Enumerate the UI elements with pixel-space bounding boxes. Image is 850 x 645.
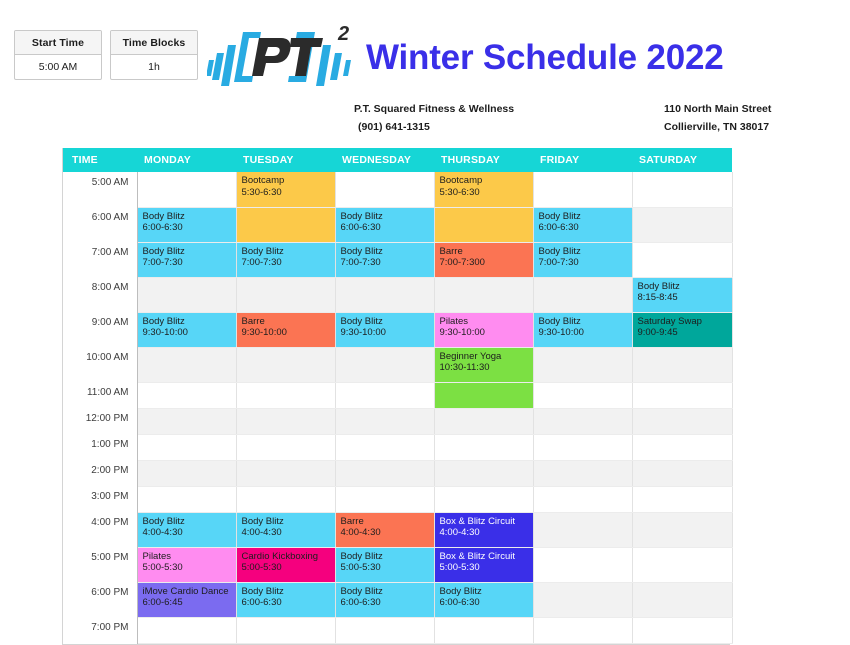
empty-slot-friday[interactable] [533,486,632,512]
class-block-tuesday[interactable]: Bootcamp5:30-6:30 [236,172,335,207]
empty-slot-saturday[interactable] [632,486,732,512]
time-label: 1:00 PM [63,434,137,460]
class-block-content: Body Blitz9:30-10:00 [534,313,632,347]
business-address: 110 North Main Street Collierville, TN 3… [664,100,771,136]
class-name: Body Blitz [341,246,434,258]
empty-slot-tuesday[interactable] [236,277,335,312]
schedule-row: 8:00 AMBody Blitz8:15-8:45 [63,277,732,312]
schedule-row: 6:00 PMiMove Cardio Dance6:00-6:45Body B… [63,582,732,617]
empty-slot-friday[interactable] [533,172,632,207]
time-label: 9:00 AM [63,312,137,347]
class-name: Body Blitz [638,281,732,293]
empty-slot-monday[interactable] [137,172,236,207]
schedule-row: 6:00 AMBody Blitz6:00-6:30Body Blitz6:00… [63,207,732,242]
class-time: 5:30-6:30 [440,187,533,199]
class-name: Saturday Swap [638,316,732,328]
class-name: Body Blitz [143,211,236,223]
schedule-row: 11:00 AM [63,382,732,408]
class-name: Pilates [440,316,533,328]
empty-slot-tuesday[interactable] [236,408,335,434]
class-time: 5:00-5:30 [143,562,236,574]
class-block-thursday[interactable]: Bootcamp5:30-6:30 [434,172,533,207]
class-block-content: Body Blitz6:00-6:30 [435,583,533,617]
class-block-content [237,208,335,242]
empty-slot-saturday[interactable] [632,347,732,382]
schedule-row: 1:00 PM [63,434,732,460]
class-name: Cardio Kickboxing [242,551,335,563]
empty-slot-friday[interactable] [533,460,632,486]
time-label: 7:00 AM [63,242,137,277]
class-name: Bootcamp [242,175,335,187]
schedule-body: 5:00 AMBootcamp5:30-6:30Bootcamp5:30-6:3… [63,172,732,643]
empty-slot-tuesday[interactable] [236,382,335,408]
class-block-content: Barre9:30-10:00 [237,313,335,347]
column-header-thursday: THURSDAY [434,148,533,172]
class-block-content: Body Blitz6:00-6:30 [138,208,236,242]
class-name: Body Blitz [440,586,533,598]
class-block-content: Box & Blitz Circuit4:00-4:30 [435,513,533,547]
class-time: 7:00-7:30 [341,257,434,269]
class-block-content: iMove Cardio Dance6:00-6:45 [138,583,236,617]
class-name: Body Blitz [143,246,236,258]
time-blocks-control[interactable]: Time Blocks 1h [110,30,198,80]
address-line-1: 110 North Main Street [664,100,771,118]
class-time: 9:30-10:00 [539,327,632,339]
class-block-monday[interactable]: Body Blitz7:00-7:30 [137,242,236,277]
time-label: 5:00 AM [63,172,137,207]
svg-text:2: 2 [337,23,349,45]
empty-slot-monday[interactable] [137,408,236,434]
time-label: 6:00 AM [63,207,137,242]
class-block-thursday[interactable] [434,207,533,242]
time-label: 10:00 AM [63,347,137,382]
class-block-tuesday[interactable]: Body Blitz4:00-4:30 [236,512,335,547]
class-block-wednesday[interactable]: Body Blitz5:00-5:30 [335,547,434,582]
time-label: 11:00 AM [63,382,137,408]
class-block-monday[interactable]: Body Blitz4:00-4:30 [137,512,236,547]
page-title: Winter Schedule 2022 [366,38,724,78]
class-block-content: Body Blitz6:00-6:30 [237,583,335,617]
column-header-saturday: SATURDAY [632,148,732,172]
time-label: 5:00 PM [63,547,137,582]
class-block-tuesday[interactable]: Barre9:30-10:00 [236,312,335,347]
class-block-monday[interactable]: iMove Cardio Dance6:00-6:45 [137,582,236,617]
empty-slot-saturday[interactable] [632,460,732,486]
schedule-row: 5:00 PMPilates5:00-5:30Cardio Kickboxing… [63,547,732,582]
empty-slot-thursday[interactable] [434,408,533,434]
class-block-thursday[interactable]: Beginner Yoga10:30-11:30 [434,347,533,382]
time-label: 2:00 PM [63,460,137,486]
class-block-monday[interactable]: Body Blitz6:00-6:30 [137,207,236,242]
class-block-content: Body Blitz6:00-6:30 [336,583,434,617]
class-block-friday[interactable]: Body Blitz6:00-6:30 [533,207,632,242]
class-block-content: Body Blitz7:00-7:30 [237,243,335,277]
empty-slot-saturday[interactable] [632,617,732,643]
class-block-content [435,383,533,408]
class-block-thursday[interactable]: Box & Blitz Circuit4:00-4:30 [434,512,533,547]
class-time: 4:00-4:30 [242,527,335,539]
time-label: 3:00 PM [63,486,137,512]
empty-slot-tuesday[interactable] [236,434,335,460]
class-name: Box & Blitz Circuit [440,516,533,528]
class-name: Body Blitz [341,551,434,563]
class-time: 7:00-7:300 [440,257,533,269]
class-block-monday[interactable]: Pilates5:00-5:30 [137,547,236,582]
empty-slot-wednesday[interactable] [335,277,434,312]
schedule-table: TIMEMONDAYTUESDAYWEDNESDAYTHURSDAYFRIDAY… [63,148,733,644]
empty-slot-saturday[interactable] [632,408,732,434]
class-block-content: Pilates9:30-10:00 [435,313,533,347]
class-block-thursday[interactable]: Box & Blitz Circuit5:00-5:30 [434,547,533,582]
empty-slot-saturday[interactable] [632,434,732,460]
class-block-content: Body Blitz9:30-10:00 [138,313,236,347]
class-time: 4:00-4:30 [440,527,533,539]
class-name: Body Blitz [341,211,434,223]
class-block-content: Bootcamp5:30-6:30 [435,172,533,207]
empty-slot-friday[interactable] [533,512,632,547]
class-time: 9:30-10:00 [341,327,434,339]
class-block-wednesday[interactable]: Barre4:00-4:30 [335,512,434,547]
empty-slot-thursday[interactable] [434,486,533,512]
class-block-friday[interactable]: Body Blitz9:30-10:00 [533,312,632,347]
class-name: Body Blitz [242,516,335,528]
empty-slot-saturday[interactable] [632,172,732,207]
class-block-content: Body Blitz9:30-10:00 [336,313,434,347]
empty-slot-monday[interactable] [137,277,236,312]
class-block-thursday[interactable]: Pilates9:30-10:00 [434,312,533,347]
column-header-tuesday: TUESDAY [236,148,335,172]
class-name: Body Blitz [539,246,632,258]
empty-slot-thursday[interactable] [434,434,533,460]
class-time: 9:00-9:45 [638,327,732,339]
class-time: 9:30-10:00 [440,327,533,339]
empty-slot-monday[interactable] [137,486,236,512]
class-time: 9:30-10:00 [143,327,236,339]
class-block-content: Barre4:00-4:30 [336,513,434,547]
time-blocks-value[interactable]: 1h [111,55,197,79]
column-header-time: TIME [63,148,137,172]
empty-slot-wednesday[interactable] [335,460,434,486]
class-block-content: Cardio Kickboxing5:00-5:30 [237,548,335,582]
empty-slot-friday[interactable] [533,547,632,582]
class-block-content: Body Blitz6:00-6:30 [534,208,632,242]
class-time: 7:00-7:30 [539,257,632,269]
class-block-wednesday[interactable]: Body Blitz6:00-6:30 [335,207,434,242]
empty-slot-saturday[interactable] [632,582,732,617]
class-block-thursday[interactable]: Barre7:00-7:300 [434,242,533,277]
column-header-friday: FRIDAY [533,148,632,172]
class-block-tuesday[interactable] [236,207,335,242]
schedule-row: 3:00 PM [63,486,732,512]
class-time: 4:00-4:30 [143,527,236,539]
class-name: Pilates [143,551,236,563]
schedule-row: 12:00 PM [63,408,732,434]
empty-slot-monday[interactable] [137,617,236,643]
class-time: 9:30-10:00 [242,327,335,339]
time-label: 8:00 AM [63,277,137,312]
class-name: Bootcamp [440,175,533,187]
class-time: 5:00-5:30 [242,562,335,574]
empty-slot-friday[interactable] [533,277,632,312]
class-time: 6:00-6:30 [341,222,434,234]
class-time: 7:00-7:30 [143,257,236,269]
class-block-saturday[interactable]: Body Blitz8:15-8:45 [632,277,732,312]
schedule-settings: Start Time 5:00 AM Time Blocks 1h [14,30,198,80]
class-block-tuesday[interactable]: Body Blitz7:00-7:30 [236,242,335,277]
business-info: P.T. Squared Fitness & Wellness (901) 64… [354,100,514,136]
class-block-content: Body Blitz8:15-8:45 [633,278,732,312]
empty-slot-thursday[interactable] [434,460,533,486]
empty-slot-wednesday[interactable] [335,172,434,207]
class-block-content: Body Blitz7:00-7:30 [534,243,632,277]
empty-slot-friday[interactable] [533,347,632,382]
class-name: Body Blitz [143,516,236,528]
class-block-content: Beginner Yoga10:30-11:30 [435,348,533,382]
class-time: 7:00-7:30 [242,257,335,269]
class-block-friday[interactable]: Body Blitz7:00-7:30 [533,242,632,277]
time-blocks-label: Time Blocks [111,31,197,55]
schedule-row: 10:00 AMBeginner Yoga10:30-11:30 [63,347,732,382]
class-block-wednesday[interactable]: Body Blitz7:00-7:30 [335,242,434,277]
class-block-content: Pilates5:00-5:30 [138,548,236,582]
class-block-content: Body Blitz5:00-5:30 [336,548,434,582]
empty-slot-saturday[interactable] [632,207,732,242]
class-block-content: Box & Blitz Circuit5:00-5:30 [435,548,533,582]
schedule-row: 2:00 PM [63,460,732,486]
weekly-schedule: TIMEMONDAYTUESDAYWEDNESDAYTHURSDAYFRIDAY… [62,148,730,645]
class-block-monday[interactable]: Body Blitz9:30-10:00 [137,312,236,347]
class-time: 6:00-6:30 [440,597,533,609]
empty-slot-monday[interactable] [137,434,236,460]
time-label: 6:00 PM [63,582,137,617]
class-name: Body Blitz [341,316,434,328]
class-time: 6:00-6:30 [242,597,335,609]
time-label: 4:00 PM [63,512,137,547]
empty-slot-thursday[interactable] [434,617,533,643]
schedule-row: 5:00 AMBootcamp5:30-6:30Bootcamp5:30-6:3… [63,172,732,207]
class-block-wednesday[interactable]: Body Blitz9:30-10:00 [335,312,434,347]
empty-slot-wednesday[interactable] [335,408,434,434]
empty-slot-wednesday[interactable] [335,434,434,460]
class-block-content: Barre7:00-7:300 [435,243,533,277]
empty-slot-tuesday[interactable] [236,617,335,643]
class-time: 8:15-8:45 [638,292,732,304]
class-time: 6:00-6:30 [143,222,236,234]
class-name: Barre [341,516,434,528]
class-name: Barre [242,316,335,328]
class-block-saturday[interactable]: Saturday Swap9:00-9:45 [632,312,732,347]
empty-slot-tuesday[interactable] [236,486,335,512]
class-name: Box & Blitz Circuit [440,551,533,563]
class-block-thursday[interactable]: Body Blitz6:00-6:30 [434,582,533,617]
class-time: 5:00-5:30 [440,562,533,574]
empty-slot-friday[interactable] [533,434,632,460]
time-label: 12:00 PM [63,408,137,434]
empty-slot-wednesday[interactable] [335,347,434,382]
class-name: Body Blitz [539,211,632,223]
schedule-row: 7:00 AMBody Blitz7:00-7:30Body Blitz7:00… [63,242,732,277]
class-block-content: Body Blitz6:00-6:30 [336,208,434,242]
start-time-value[interactable]: 5:00 AM [15,55,101,79]
address-line-2: Collierville, TN 38017 [664,118,771,136]
start-time-control[interactable]: Start Time 5:00 AM [14,30,102,80]
empty-slot-saturday[interactable] [632,382,732,408]
column-header-wednesday: WEDNESDAY [335,148,434,172]
class-time: 10:30-11:30 [440,362,533,374]
class-time: 6:00-6:30 [341,597,434,609]
empty-slot-tuesday[interactable] [236,460,335,486]
empty-slot-monday[interactable] [137,460,236,486]
empty-slot-friday[interactable] [533,582,632,617]
schedule-row: 4:00 PMBody Blitz4:00-4:30Body Blitz4:00… [63,512,732,547]
pt-squared-logo: 2 [207,20,359,90]
empty-slot-wednesday[interactable] [335,486,434,512]
empty-slot-monday[interactable] [137,382,236,408]
schedule-header-row: TIMEMONDAYTUESDAYWEDNESDAYTHURSDAYFRIDAY… [63,148,732,172]
class-block-content: Bootcamp5:30-6:30 [237,172,335,207]
class-block-content: Body Blitz4:00-4:30 [138,513,236,547]
empty-slot-tuesday[interactable] [236,347,335,382]
class-block-content: Body Blitz7:00-7:30 [336,243,434,277]
class-block-content: Saturday Swap9:00-9:45 [633,313,732,347]
contact-info: P.T. Squared Fitness & Wellness (901) 64… [0,100,850,140]
empty-slot-wednesday[interactable] [335,617,434,643]
class-block-wednesday[interactable]: Body Blitz6:00-6:30 [335,582,434,617]
empty-slot-wednesday[interactable] [335,382,434,408]
class-name: Body Blitz [143,316,236,328]
class-block-tuesday[interactable]: Body Blitz6:00-6:30 [236,582,335,617]
class-name: Barre [440,246,533,258]
class-time: 5:30-6:30 [242,187,335,199]
empty-slot-friday[interactable] [533,617,632,643]
class-block-content: Body Blitz7:00-7:30 [138,243,236,277]
schedule-row: 7:00 PM [63,617,732,643]
class-time: 4:00-4:30 [341,527,434,539]
time-label: 7:00 PM [63,617,137,643]
business-phone: (901) 641-1315 [354,118,514,136]
empty-slot-saturday[interactable] [632,512,732,547]
start-time-label: Start Time [15,31,101,55]
class-block-content: Body Blitz4:00-4:30 [237,513,335,547]
class-name: Body Blitz [341,586,434,598]
empty-slot-monday[interactable] [137,347,236,382]
empty-slot-saturday[interactable] [632,547,732,582]
class-block-tuesday[interactable]: Cardio Kickboxing5:00-5:30 [236,547,335,582]
class-time: 5:00-5:30 [341,562,434,574]
class-name: Beginner Yoga [440,351,533,363]
empty-slot-friday[interactable] [533,382,632,408]
empty-slot-friday[interactable] [533,408,632,434]
class-time: 6:00-6:45 [143,597,236,609]
empty-slot-thursday[interactable] [434,277,533,312]
schedule-row: 9:00 AMBody Blitz9:30-10:00Barre9:30-10:… [63,312,732,347]
class-block-thursday[interactable] [434,382,533,408]
class-time: 6:00-6:30 [539,222,632,234]
business-name: P.T. Squared Fitness & Wellness [354,100,514,118]
class-name: Body Blitz [242,246,335,258]
empty-slot-saturday[interactable] [632,242,732,277]
class-name: iMove Cardio Dance [143,586,236,598]
class-block-content [435,208,533,242]
class-name: Body Blitz [539,316,632,328]
class-name: Body Blitz [242,586,335,598]
column-header-monday: MONDAY [137,148,236,172]
